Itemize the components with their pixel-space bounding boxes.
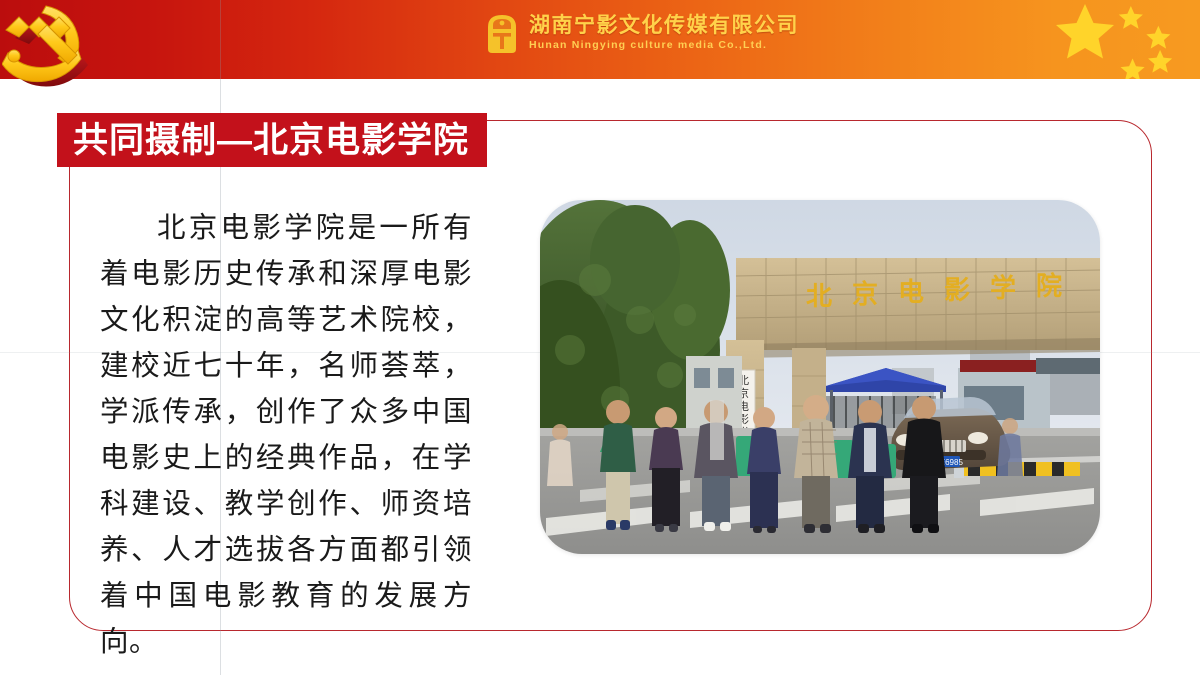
svg-text:北: 北	[806, 282, 832, 311]
company-seal-icon	[484, 11, 520, 55]
cpc-party-emblem-icon	[2, 0, 98, 92]
slide-title-banner: 共同摄制—北京电影学院	[57, 113, 487, 167]
svg-text:京: 京	[852, 279, 878, 309]
svg-text:电: 电	[898, 278, 924, 307]
company-branding: 湖南宁影文化传媒有限公司 Hunan Ningying culture medi…	[484, 11, 799, 55]
svg-text:学: 学	[990, 273, 1016, 303]
china-flag-stars-icon	[1050, 0, 1200, 79]
company-name-en: Hunan Ningying culture media Co.,Ltd.	[529, 39, 799, 52]
svg-text:影: 影	[944, 276, 970, 305]
presentation-slide: 湖南宁影文化传媒有限公司 Hunan Ningying culture medi…	[0, 0, 1200, 675]
svg-text:院: 院	[1036, 271, 1062, 301]
company-name-cn: 湖南宁影文化传媒有限公司	[529, 14, 799, 38]
beijing-film-academy-gate-photo: 北 京 电 影 学 院 北 京 电	[540, 200, 1100, 554]
slide-title: 共同摄制—北京电影学院	[73, 123, 469, 158]
body-paragraph: 北京电影学院是一所有着电影历史传承和深厚电影文化积淀的高等艺术院校，建校近七十年…	[100, 205, 472, 665]
